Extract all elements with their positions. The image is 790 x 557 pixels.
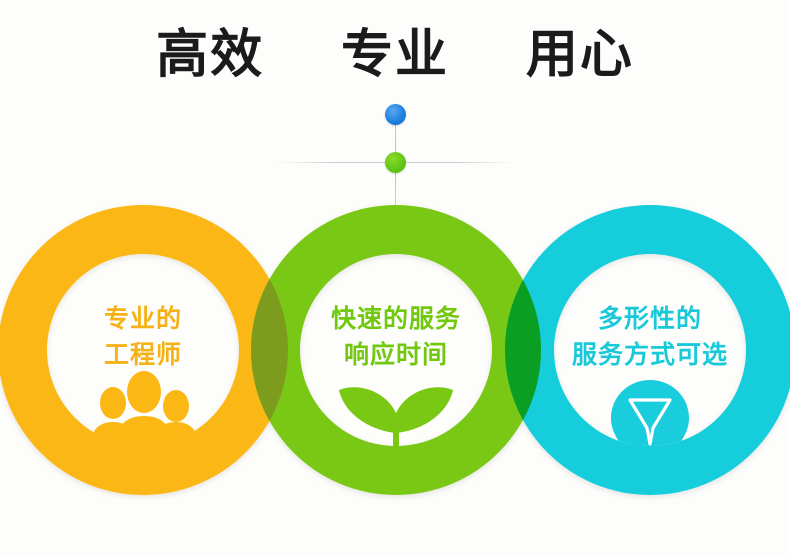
caption-line: 快速的服务 [281, 302, 511, 338]
venn-rings-group [0, 0, 790, 557]
venn-diagram-svg [0, 0, 790, 557]
caption-line: 专业的 [28, 302, 258, 338]
poster-canvas: 高效 专业 用心 [0, 0, 790, 557]
ring-caption-service-options: 多形性的 服务方式可选 [535, 302, 765, 373]
caption-line: 多形性的 [535, 302, 765, 338]
ring-caption-engineers: 专业的 工程师 [28, 302, 258, 373]
caption-line: 工程师 [28, 338, 258, 374]
caption-line: 响应时间 [281, 338, 511, 374]
overlap-green-cyan [0, 0, 790, 557]
caption-line: 服务方式可选 [535, 338, 765, 374]
ring-caption-response-time: 快速的服务 响应时间 [281, 302, 511, 373]
